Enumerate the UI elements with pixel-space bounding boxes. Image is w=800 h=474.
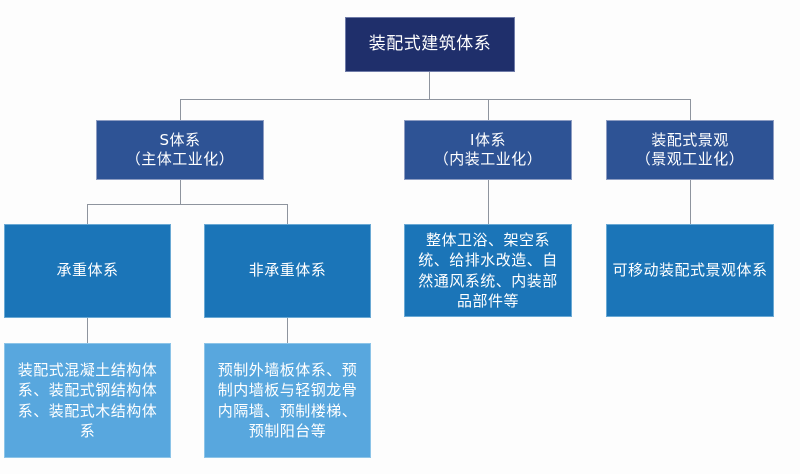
connector-bus2-to-non-load-bearing <box>287 204 288 224</box>
node-root[interactable]: 装配式建筑体系 <box>345 17 515 72</box>
connector-landscape-to-items <box>690 180 691 224</box>
connector-bus-to-landscape <box>690 99 691 120</box>
node-i-system-items[interactable]: 整体卫浴、架空系统、给排水改造、自然通风系统、内装部品部件等 <box>404 224 572 317</box>
node-landscape-items[interactable]: 可移动装配式景观体系 <box>606 224 774 317</box>
connector-non-load-bearing-to-items <box>287 318 288 343</box>
connector-level2-bus <box>180 99 690 100</box>
node-s-system[interactable]: S体系 （主体工业化） <box>96 120 264 180</box>
connector-root-to-bus <box>429 72 430 99</box>
node-non-load-bearing-items[interactable]: 预制外墙板体系、预制内墙板与轻钢龙骨内隔墙、预制楼梯、预制阳台等 <box>204 343 371 458</box>
node-i-system[interactable]: I体系 （内装工业化） <box>404 120 572 180</box>
node-non-load-bearing[interactable]: 非承重体系 <box>204 224 371 318</box>
connector-i-system-to-items <box>488 180 489 224</box>
connector-bus-to-i-system <box>488 99 489 120</box>
connector-s-system-to-bus2 <box>180 180 181 204</box>
connector-bus-to-s-system <box>180 99 181 120</box>
node-load-bearing[interactable]: 承重体系 <box>4 224 171 318</box>
node-load-bearing-items[interactable]: 装配式混凝土结构体系、装配式钢结构体系、装配式木结构体系 <box>4 343 171 458</box>
diagram-canvas: 装配式建筑体系 S体系 （主体工业化） I体系 （内装工业化） 装配式景观 （景… <box>0 0 800 474</box>
connector-load-bearing-to-items <box>87 318 88 343</box>
connector-bus2-to-load-bearing <box>87 204 88 224</box>
connector-s-system-bus <box>87 204 287 205</box>
node-landscape[interactable]: 装配式景观 （景观工业化） <box>606 120 774 180</box>
